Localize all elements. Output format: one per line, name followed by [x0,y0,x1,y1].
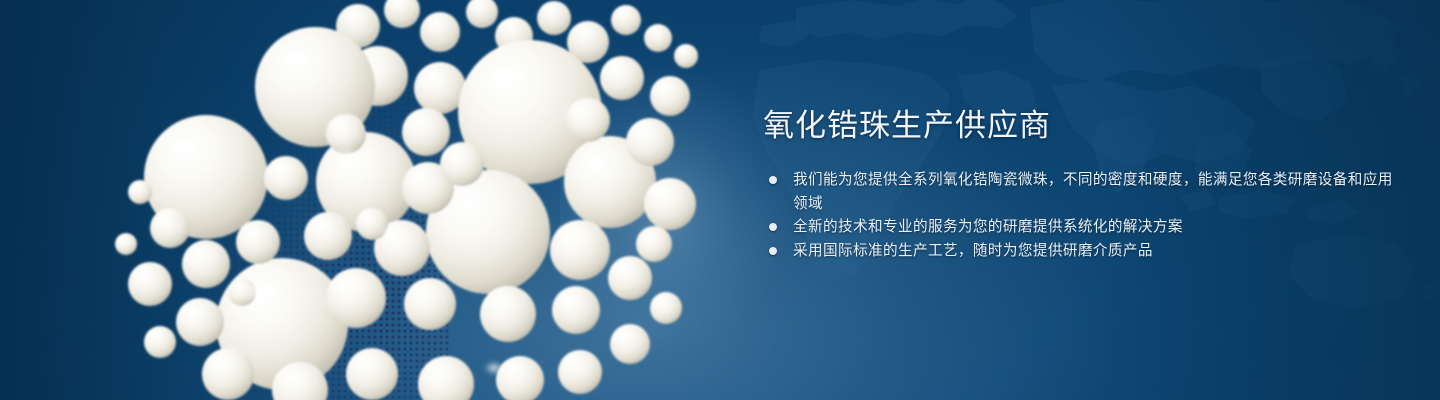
bullet-dot-icon [769,176,777,184]
list-item: 采用国际标准的生产工艺，随时为您提供研磨介质产品 [763,239,1403,263]
feature-bullet-list: 我们能为您提供全系列氧化锆陶瓷微珠，不同的密度和硬度，能满足您各类研磨设备和应用… [763,168,1403,262]
list-item: 我们能为您提供全系列氧化锆陶瓷微珠，不同的密度和硬度，能满足您各类研磨设备和应用… [763,168,1403,215]
bullet-text: 采用国际标准的生产工艺，随时为您提供研磨介质产品 [793,242,1153,259]
banner-headline: 氧化锆珠生产供应商 [763,106,1403,146]
bullet-text: 我们能为您提供全系列氧化锆陶瓷微珠，不同的密度和硬度，能满足您各类研磨设备和应用… [793,171,1393,212]
bullet-dot-icon [769,223,777,231]
hero-banner: 氧化锆珠生产供应商 我们能为您提供全系列氧化锆陶瓷微珠，不同的密度和硬度，能满足… [0,0,1440,400]
bullet-dot-icon [769,247,777,255]
banner-copy: 氧化锆珠生产供应商 我们能为您提供全系列氧化锆陶瓷微珠，不同的密度和硬度，能满足… [763,106,1403,262]
list-item: 全新的技术和专业的服务为您的研磨提供系统化的解决方案 [763,215,1403,239]
bullet-text: 全新的技术和专业的服务为您的研磨提供系统化的解决方案 [793,218,1183,235]
zirconia-beads-photo [110,0,730,400]
